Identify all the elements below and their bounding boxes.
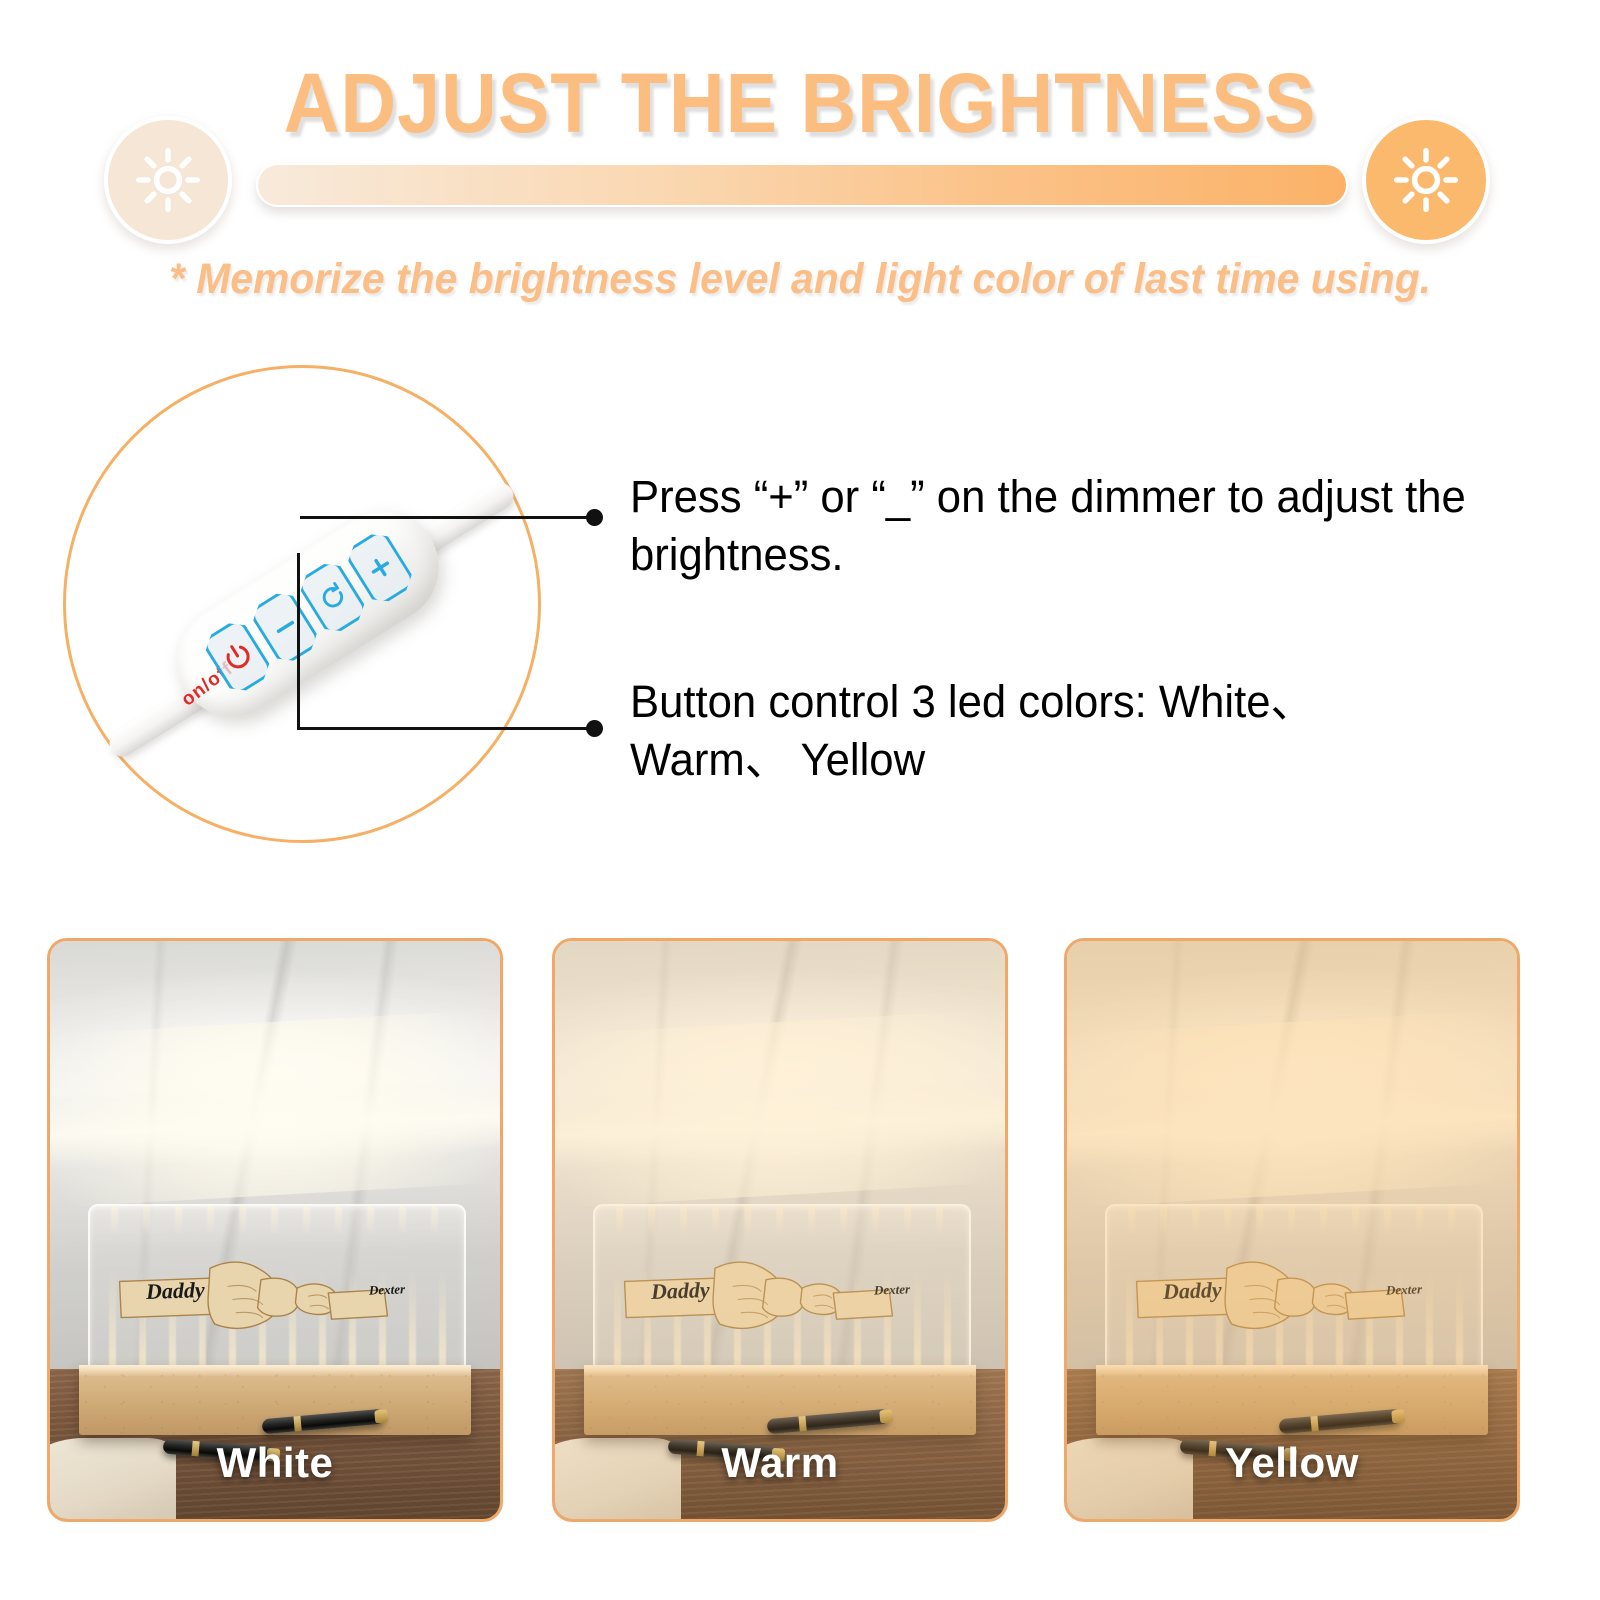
memory-note: * Memorize the brightness level and ligh… (40, 255, 1560, 304)
brightness-slider[interactable] (256, 163, 1348, 207)
name-tag-small: Dexter (368, 1281, 405, 1298)
panel-label-white: White (50, 1439, 500, 1487)
callout-2-leader-line-vertical (297, 553, 300, 730)
panel-warm[interactable]: Daddy Dexter Warm (552, 938, 1008, 1522)
led-top-glow (1115, 1206, 1474, 1236)
callout-1-leader-dot (586, 509, 603, 526)
color-mode-panels: Daddy Dexter White (0, 938, 1600, 1538)
panel-label-warm: Warm (555, 1439, 1005, 1487)
acrylic-plaque: Daddy Dexter (1105, 1204, 1483, 1373)
callout-2-leader-line-horizontal (297, 727, 590, 730)
dimmer-button-layer: on/off (156, 490, 460, 738)
callout-brightness-text: Press “+” or “_” on the dimmer to adjust… (630, 468, 1484, 583)
header-section: ADJUST THE BRIGHTNESS * Memorize (0, 0, 1600, 330)
plus-icon (359, 547, 400, 588)
name-tag-small: Dexter (1385, 1281, 1422, 1298)
name-tag-small: Dexter (873, 1281, 910, 1298)
acrylic-plaque: Daddy Dexter (88, 1204, 466, 1373)
name-tag-large: Daddy (1163, 1277, 1223, 1305)
sun-high-icon (1362, 116, 1490, 244)
callout-1-leader-line (300, 516, 590, 519)
product-photo-white: Daddy Dexter (50, 941, 500, 1519)
sun-low-icon (104, 116, 232, 244)
panel-white[interactable]: Daddy Dexter White (47, 938, 503, 1522)
callout-2-leader-dot (586, 720, 603, 737)
led-top-glow (98, 1206, 457, 1236)
page-title: ADJUST THE BRIGHTNESS (64, 55, 1536, 152)
led-top-glow (603, 1206, 962, 1236)
acrylic-plaque: Daddy Dexter (593, 1204, 971, 1373)
power-icon (217, 636, 258, 677)
name-tag-large: Daddy (146, 1277, 206, 1305)
refresh-cycle-icon (312, 577, 353, 618)
dimmer-illustration: on/off (120, 420, 490, 790)
dimmer-section: on/off (0, 340, 1600, 910)
panel-yellow[interactable]: Daddy Dexter Yellow (1064, 938, 1520, 1522)
callout-colors-text: Button control 3 led colors: White、 Warm… (630, 673, 1484, 788)
name-tag-large: Daddy (651, 1277, 711, 1305)
product-photo-warm: Daddy Dexter (555, 941, 1005, 1519)
product-photo-yellow: Daddy Dexter (1067, 941, 1517, 1519)
panel-label-yellow: Yellow (1067, 1439, 1517, 1487)
